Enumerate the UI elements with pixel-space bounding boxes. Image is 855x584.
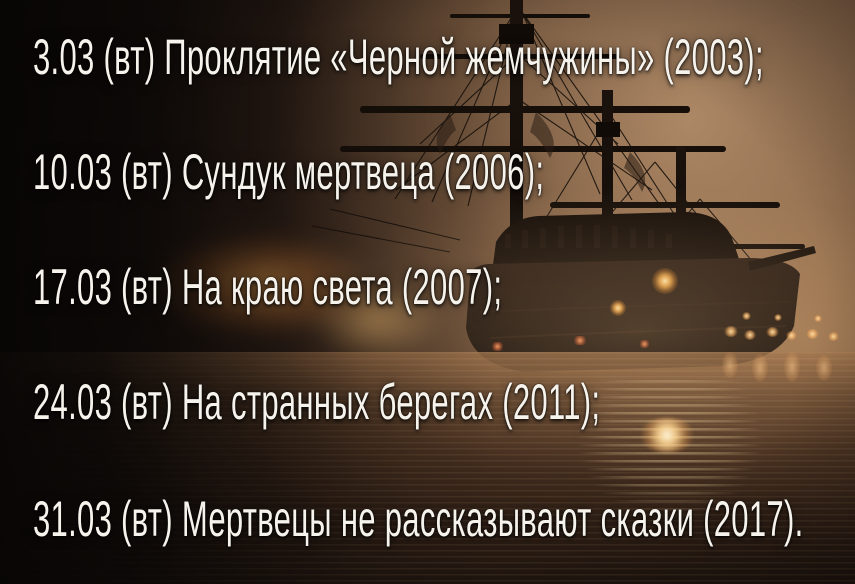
schedule-line-2: 10.03 (вт) Сундук мертвеца (2006);	[33, 147, 544, 197]
schedule-line-3: 17.03 (вт) На краю света (2007);	[33, 262, 502, 312]
schedule-line-4: 24.03 (вт) На странных берегах (2011);	[33, 377, 600, 427]
schedule-text-block: 3.03 (вт) Проклятие «Черной жемчужины» (…	[0, 0, 855, 584]
schedule-poster: 3.03 (вт) Проклятие «Черной жемчужины» (…	[0, 0, 855, 584]
schedule-line-5: 31.03 (вт) Мертвецы не рассказывают сказ…	[33, 494, 804, 544]
schedule-line-1: 3.03 (вт) Проклятие «Черной жемчужины» (…	[33, 32, 764, 82]
